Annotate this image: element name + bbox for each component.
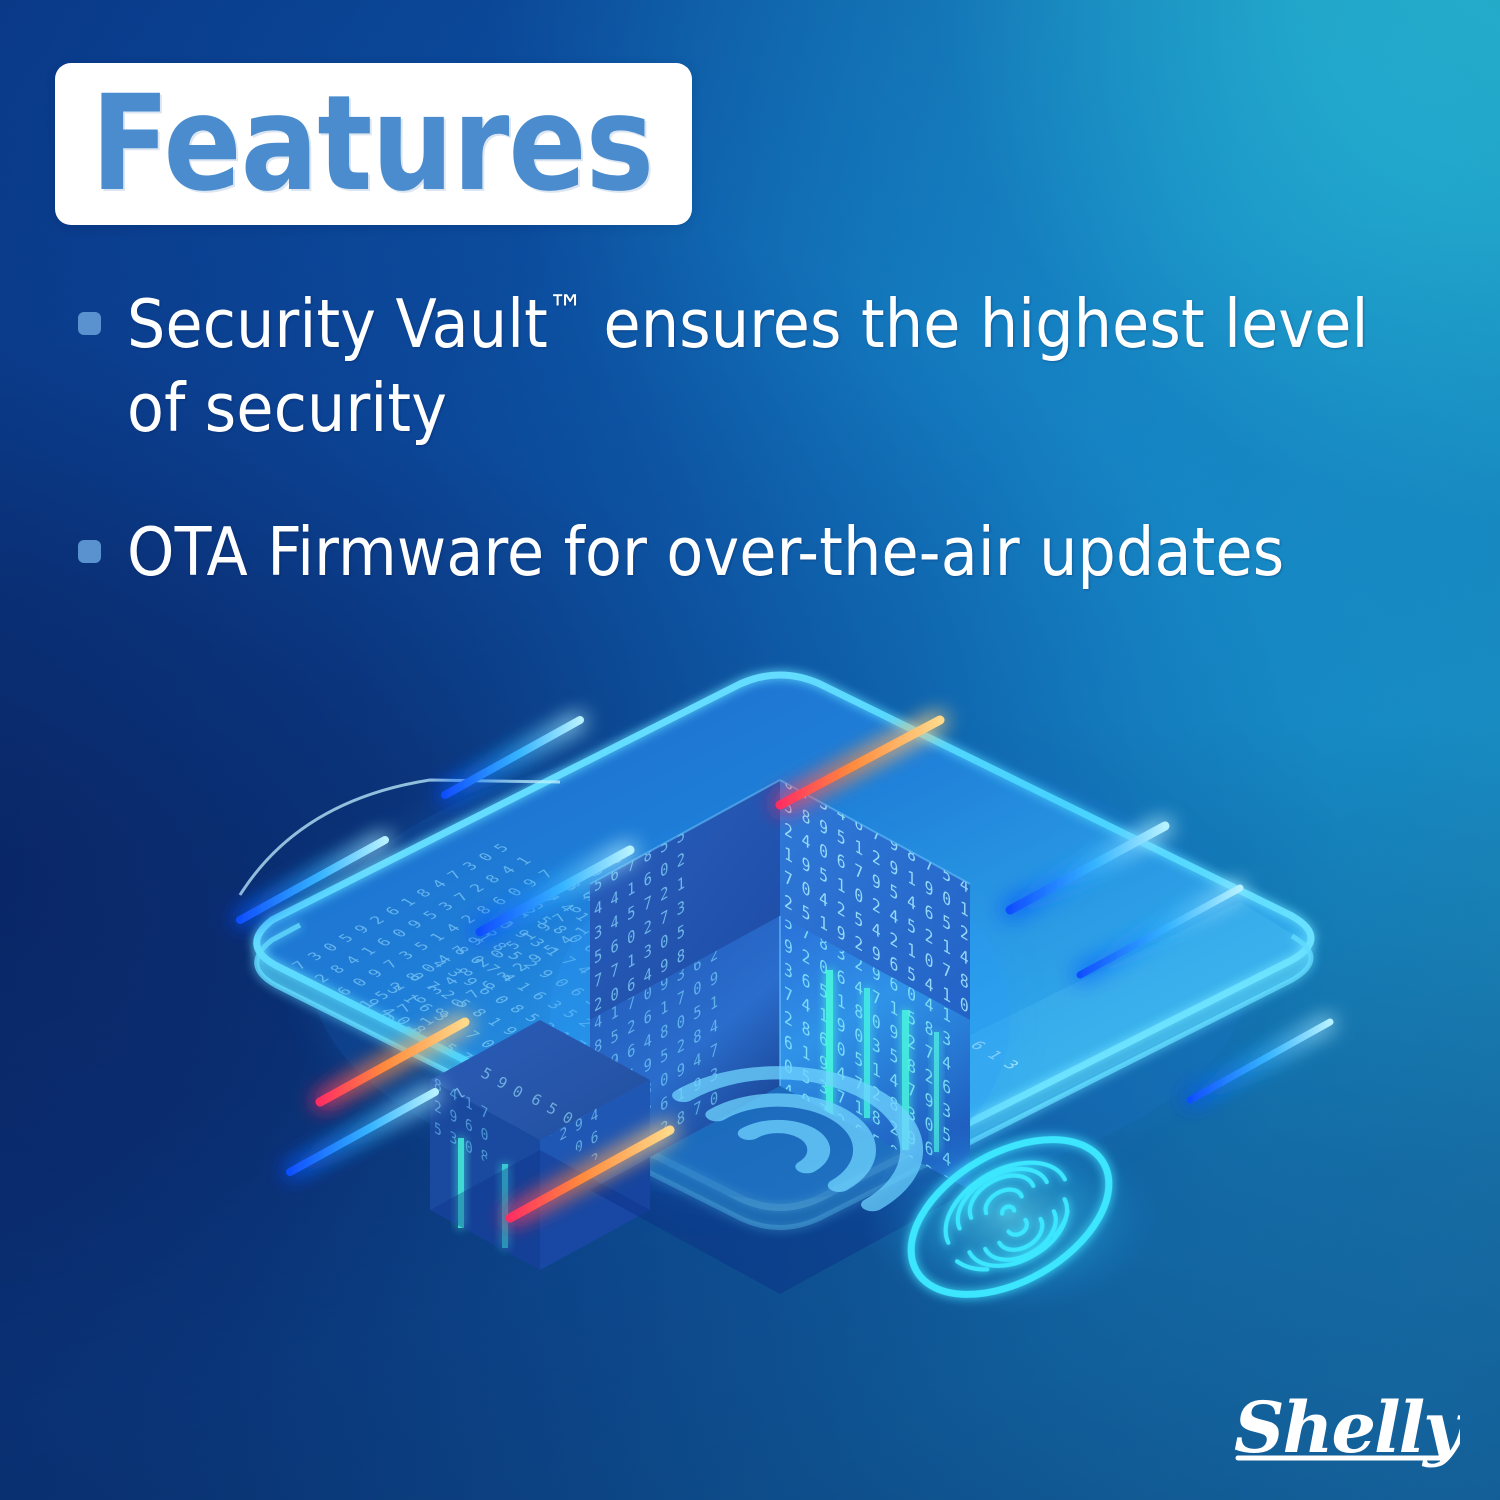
page-title: Features (55, 78, 653, 210)
trademark-icon: ™ (548, 288, 584, 334)
brand-logo: Shelly (1230, 1390, 1460, 1472)
bullet-square-icon (78, 540, 101, 563)
title-card: Features (55, 63, 692, 225)
neon-streak-blue-3 (290, 1092, 435, 1172)
feature-list: Security Vault™ ensures the highest leve… (78, 282, 1428, 654)
list-item: OTA Firmware for over-the-air updates (78, 510, 1428, 594)
feature-text-0-main: Security Vault (127, 285, 548, 363)
illustration-smart-home-phone: 5 2 8 0 6 3 1 9 4 7 2 5 8 1 0 6 9 1 4 7 … (180, 720, 1360, 1420)
list-item: Security Vault™ ensures the highest leve… (78, 282, 1428, 450)
feature-text-1-main: OTA Firmware for over-the-air updates (127, 513, 1284, 591)
feature-text-0: Security Vault™ ensures the highest leve… (127, 282, 1417, 450)
bullet-square-icon (78, 312, 101, 335)
feature-poster: Features Security Vault™ ensures the hig… (0, 0, 1500, 1500)
feature-text-1: OTA Firmware for over-the-air updates (127, 510, 1284, 594)
